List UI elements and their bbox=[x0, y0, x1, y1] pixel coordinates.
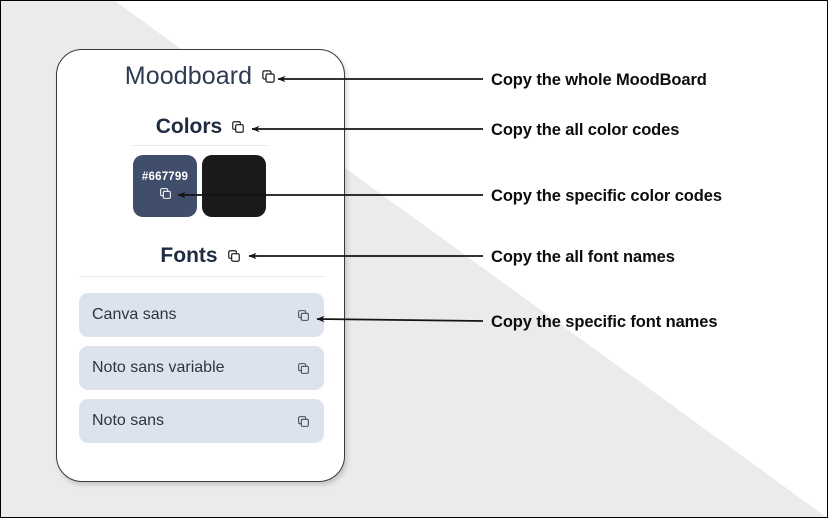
screenshot-root: Moodboard Colors bbox=[0, 0, 828, 518]
color-swatch-row: #667799 bbox=[133, 155, 266, 217]
colors-heading-row: Colors bbox=[57, 116, 344, 137]
annotation-all-color-codes: Copy the all color codes bbox=[491, 122, 679, 139]
copy-icon-moodboard[interactable] bbox=[261, 69, 276, 84]
annotation-specific-color-codes: Copy the specific color codes bbox=[491, 188, 722, 205]
fonts-heading: Fonts bbox=[160, 245, 217, 266]
font-name-label: Noto sans variable bbox=[92, 360, 225, 376]
color-code-label: #667799 bbox=[142, 172, 188, 184]
list-item[interactable]: Noto sans bbox=[79, 399, 324, 443]
copy-icon-specific-font[interactable] bbox=[297, 415, 310, 428]
annotation-all-font-names: Copy the all font names bbox=[491, 249, 675, 266]
annotation-specific-font-names: Copy the specific font names bbox=[491, 314, 717, 331]
moodboard-card: Moodboard Colors bbox=[56, 49, 345, 482]
copy-icon-specific-font[interactable] bbox=[297, 362, 310, 375]
colors-divider bbox=[133, 145, 267, 146]
list-item[interactable]: Canva sans bbox=[79, 293, 324, 337]
font-name-label: Canva sans bbox=[92, 307, 177, 323]
moodboard-title-row: Moodboard bbox=[57, 64, 344, 89]
annotation-whole-moodboard: Copy the whole MoodBoard bbox=[491, 72, 707, 89]
page-title: Moodboard bbox=[125, 64, 252, 89]
colors-heading: Colors bbox=[156, 116, 223, 137]
fonts-divider bbox=[79, 276, 324, 277]
copy-icon-all-fonts[interactable] bbox=[227, 249, 241, 263]
color-swatch[interactable] bbox=[202, 155, 266, 217]
fonts-heading-row: Fonts bbox=[57, 245, 344, 266]
copy-icon-all-colors[interactable] bbox=[231, 120, 245, 134]
color-swatch[interactable]: #667799 bbox=[133, 155, 197, 217]
copy-icon-specific-font[interactable] bbox=[297, 309, 310, 322]
list-item[interactable]: Noto sans variable bbox=[79, 346, 324, 390]
font-list: Canva sans Noto sans variable bbox=[79, 293, 324, 443]
font-name-label: Noto sans bbox=[92, 413, 164, 429]
copy-icon-specific-color[interactable] bbox=[159, 187, 172, 200]
